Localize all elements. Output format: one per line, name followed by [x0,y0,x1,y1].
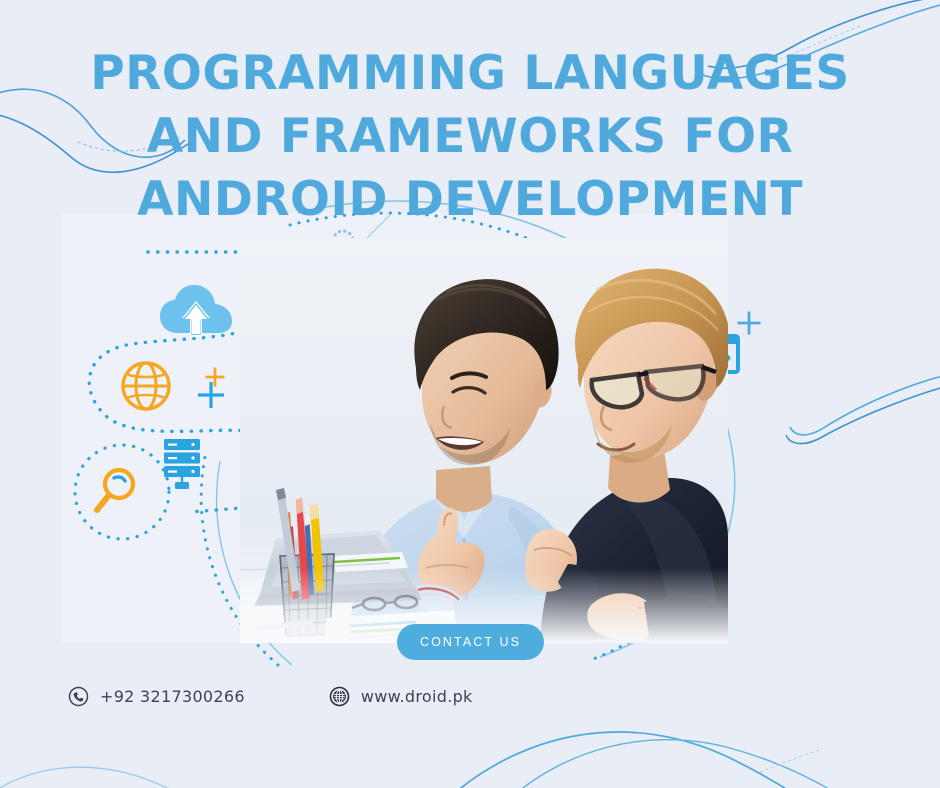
title-line-2: AND FRAMEWORKS FOR [0,105,940,168]
website-url: www.droid.pk [361,687,473,706]
contact-website[interactable]: www.droid.pk [329,686,473,707]
contact-phone[interactable]: +92 3217300266 [68,686,245,707]
plus-icon-orange [204,366,226,393]
decorative-swoosh-right-middle [750,365,940,460]
phone-number: +92 3217300266 [100,687,245,706]
globe-icon [120,360,172,417]
hero-photo [240,238,728,643]
poster-canvas: PROGRAMMING LANGUAGES AND FRAMEWORKS FOR… [0,0,940,788]
contact-us-button[interactable]: CONTACT US [397,624,544,660]
title-line-3: ANDROID DEVELOPMENT [0,168,940,231]
globe-icon [329,686,350,707]
phone-icon [68,686,89,707]
decorative-arcs-bottom [430,688,910,788]
plus-icon-right [736,310,762,341]
search-icon [92,465,144,522]
decorative-swoosh-bottom-left [0,718,190,788]
title-line-1: PROGRAMMING LANGUAGES [0,42,940,105]
contact-bar: +92 3217300266 www.droid.pk [68,686,473,707]
cloud-upload-icon [160,285,232,344]
server-icon [163,438,205,495]
page-title: PROGRAMMING LANGUAGES AND FRAMEWORKS FOR… [0,42,940,231]
